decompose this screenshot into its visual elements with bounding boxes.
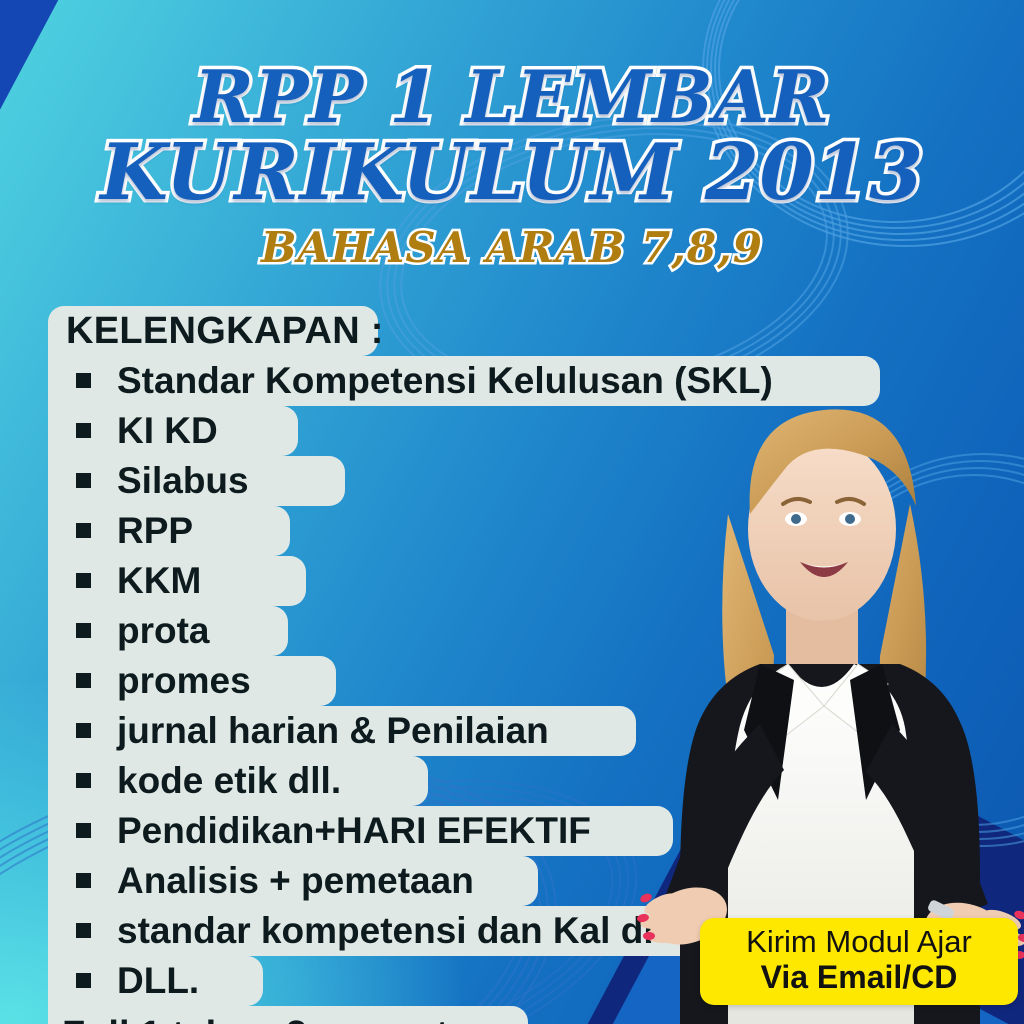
headline-line-2: KURIKULUM 2013 — [0, 135, 1024, 211]
panel-heading-row: KELENGKAPAN : — [48, 306, 908, 356]
list-item-label: Pendidikan+HARI EFEKTIF — [117, 810, 591, 851]
headline-subtitle: BAHASA ARAB 7,8,9 — [0, 227, 1024, 268]
list-item-label: KKM — [117, 560, 201, 601]
bullet-icon — [76, 423, 91, 438]
bullet-icon — [76, 773, 91, 788]
headline-block: RPP 1 LEMBAR KURIKULUM 2013 BAHASA ARAB … — [0, 62, 1024, 268]
cta-line-2: Via Email/CD — [700, 960, 1018, 996]
panel-heading: KELENGKAPAN : — [48, 306, 908, 356]
list-item-label: kode etik dll. — [117, 760, 341, 801]
list-item-label: RPP — [117, 510, 193, 551]
list-item-label: Analisis + pemetaan — [117, 860, 474, 901]
bullet-icon — [76, 573, 91, 588]
bullet-icon — [76, 673, 91, 688]
bullet-icon — [76, 373, 91, 388]
cta-line-1: Kirim Modul Ajar — [700, 924, 1018, 960]
list-item-label: promes — [117, 660, 251, 701]
bullet-icon — [76, 473, 91, 488]
list-item-label: prota — [117, 610, 210, 651]
list-item-label: DLL. — [117, 960, 199, 1001]
bullet-icon — [76, 723, 91, 738]
bullet-icon — [76, 623, 91, 638]
bullet-icon — [76, 923, 91, 938]
bullet-icon — [76, 523, 91, 538]
list-item-label: KI KD — [117, 410, 218, 451]
bullet-icon — [76, 823, 91, 838]
bullet-icon — [76, 873, 91, 888]
list-item-label: Silabus — [117, 460, 249, 501]
cta-badge[interactable]: Kirim Modul Ajar Via Email/CD — [700, 918, 1018, 1005]
headline-line-1: RPP 1 LEMBAR — [0, 62, 1024, 133]
list-item-label: jurnal harian & Penilaian — [117, 710, 549, 751]
bullet-icon — [76, 973, 91, 988]
poster-canvas: RPP 1 LEMBAR KURIKULUM 2013 BAHASA ARAB … — [0, 0, 1024, 1024]
list-item-label: standar kompetensi dan Kal di — [117, 910, 654, 951]
